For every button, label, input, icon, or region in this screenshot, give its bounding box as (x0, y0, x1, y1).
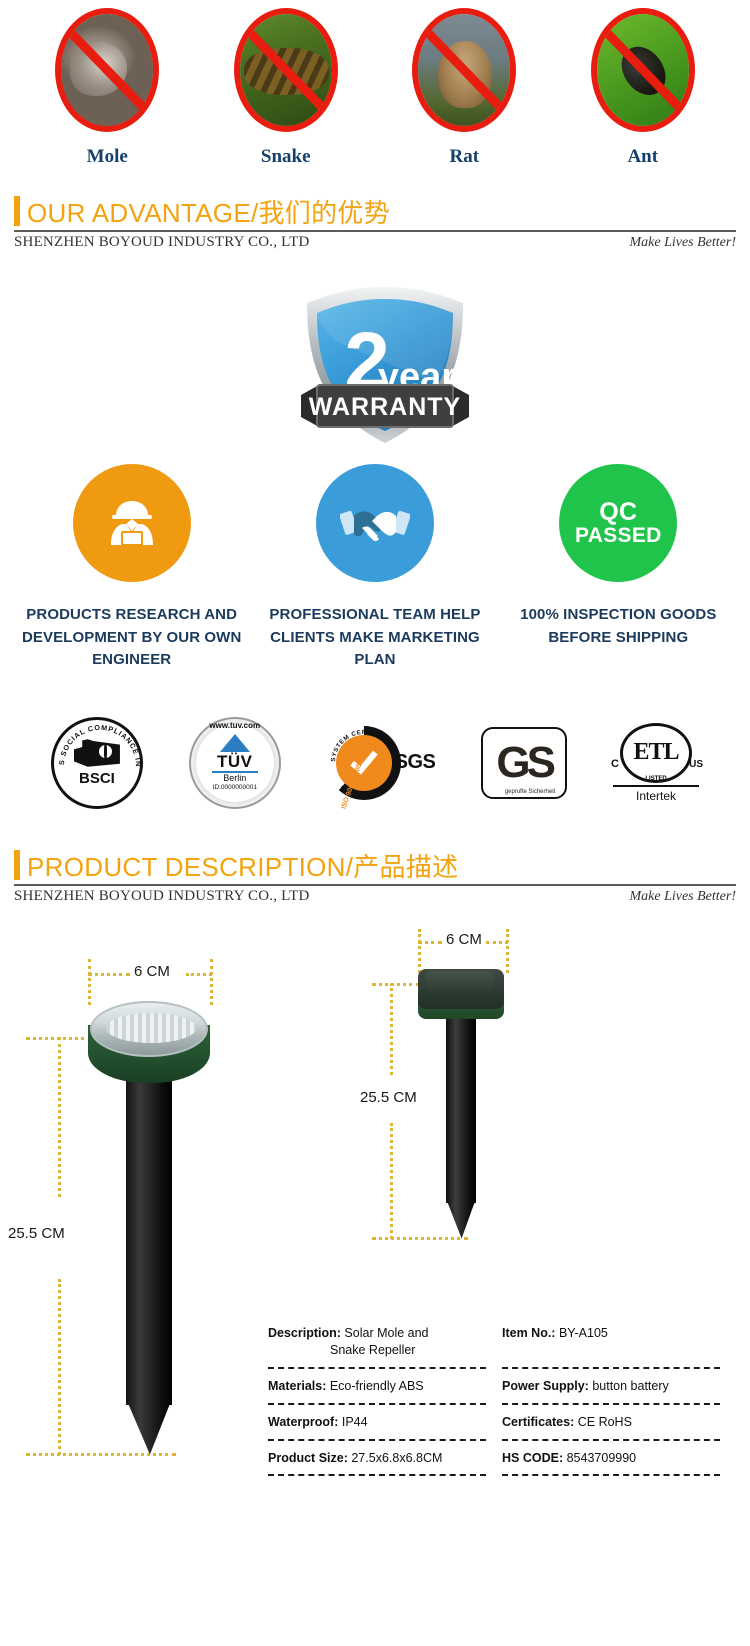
pest-item: Ant (568, 8, 718, 168)
section-title: OUR ADVANTAGE/我们的优势 (27, 200, 390, 226)
spec-value: 27.5x6.8x6.8CM (351, 1451, 442, 1465)
spec-row: Description: Solar Mole and Snake Repell… (268, 1322, 486, 1369)
gs-logo: GS geprufte Sicherheit (481, 727, 567, 799)
pest-label: Ant (568, 146, 718, 168)
spec-text: Description: Solar Mole and Snake Repell… (268, 1325, 486, 1359)
feature-inspection: QC PASSED 100% INSPECTION GOODS BEFORE S… (503, 464, 733, 672)
mole-photo-frame (55, 8, 159, 132)
dim-guide (506, 929, 509, 973)
dim-guide (88, 973, 130, 976)
snake-photo-frame (234, 8, 338, 132)
gs-label: GS (496, 743, 552, 783)
dim-guide (390, 983, 393, 1075)
etl-label: ETL (634, 739, 679, 766)
spec-separator (502, 1367, 720, 1369)
product-image-round: 6 CM 25.5 CM (0, 929, 260, 1489)
section-title-row: PRODUCT DESCRIPTION/产品描述 (14, 850, 736, 880)
ant-photo-frame (591, 8, 695, 132)
spec-key: Waterproof: (268, 1415, 338, 1429)
sgs-seal-icon: SYSTEM CERTIFICATION ISO 9001:2000 (327, 726, 401, 800)
tuv-badge: www.tuv.com TÜV Berlin ID:0000000001 (189, 717, 281, 809)
spec-key: HS CODE: (502, 1451, 563, 1465)
feature-caption: PRODUCTS RESEARCH AND DEVELOPMENT BY OUR… (17, 604, 247, 672)
etl-listed-text: LISTED (645, 776, 666, 782)
dim-guide (186, 973, 212, 976)
stake-shaft (446, 1015, 476, 1203)
dim-guide (58, 1037, 61, 1197)
spec-key: Certificates: (502, 1415, 574, 1429)
device-cap (418, 969, 504, 1009)
pest-label: Rat (389, 146, 539, 168)
pest-label: Snake (211, 146, 361, 168)
warranty-badge-area: 2 year WARRANTY (0, 263, 750, 458)
etl-prefix: C (611, 758, 619, 770)
company-name: SHENZHEN BOYOUD INDUSTRY CO., LTD (14, 234, 310, 251)
spec-value: Eco-friendly ABS (330, 1379, 424, 1393)
spec-key: Materials: (268, 1379, 326, 1393)
qc-badge-text: QC PASSED (575, 500, 662, 547)
feature-research: PRODUCTS RESEARCH AND DEVELOPMENT BY OUR… (17, 464, 247, 672)
etl-divider (613, 785, 699, 787)
etl-suffix: US (689, 759, 703, 770)
tuv-label: TÜV (217, 753, 253, 770)
bsci-badge: BUSINESS SOCIAL COMPLIANCE INITIATIVE BS… (51, 717, 143, 809)
qc-line-2: PASSED (575, 525, 662, 546)
spec-key: Product Size: (268, 1451, 348, 1465)
header-divider (14, 884, 736, 886)
spec-text: Certificates: CE RoHS (502, 1414, 720, 1431)
spec-text: Waterproof: IP44 (268, 1414, 486, 1431)
sgs-logo: SYSTEM CERTIFICATION ISO 9001:2000 SGS (327, 726, 436, 800)
spec-separator (268, 1439, 486, 1441)
spec-row: Product Size: 27.5x6.8x6.8CM (268, 1447, 486, 1477)
rat-photo-frame (412, 8, 516, 132)
spec-separator (502, 1439, 720, 1441)
spec-value-line2 (502, 1342, 720, 1359)
pest-item: Mole (32, 8, 182, 168)
solar-panel-cap (90, 1001, 208, 1057)
spec-row: Waterproof: IP44 (268, 1411, 486, 1441)
feature-caption: PROFESSIONAL TEAM HELP CLIENTS MAKE MARK… (260, 604, 490, 672)
engineer-icon (73, 464, 191, 582)
spec-row: Power Supply: button battery (502, 1375, 720, 1405)
product-image-square: 6 CM 25.5 CM (360, 911, 610, 1241)
spec-separator (502, 1474, 720, 1476)
dim-guide (486, 941, 508, 944)
features-row: PRODUCTS RESEARCH AND DEVELOPMENT BY OUR… (0, 464, 750, 672)
globe-icon (97, 743, 114, 760)
spec-column-right: Item No.: BY-A105 Power Supply: button b… (502, 1322, 720, 1482)
section-subtitle-row: SHENZHEN BOYOUD INDUSTRY CO., LTD Make L… (14, 888, 736, 905)
company-tagline: Make Lives Better! (629, 889, 736, 905)
bsci-logo: BUSINESS SOCIAL COMPLIANCE INITIATIVE BS… (51, 717, 143, 809)
company-name: SHENZHEN BOYOUD INDUSTRY CO., LTD (14, 888, 310, 905)
warranty-shield-icon: 2 year WARRANTY (295, 281, 455, 441)
dim-guide (390, 1123, 393, 1239)
our-advantage-header: OUR ADVANTAGE/我们的优势 SHENZHEN BOYOUD INDU… (0, 196, 750, 251)
spec-separator (502, 1403, 720, 1405)
section-subtitle-row: SHENZHEN BOYOUD INDUSTRY CO., LTD Make L… (14, 234, 736, 251)
spec-value: Solar Mole and (344, 1326, 428, 1340)
dim-guide (26, 1453, 176, 1456)
dim-guide (372, 983, 420, 986)
gs-sub-label: geprufte Sicherheit (505, 789, 555, 795)
dim-guide (58, 1279, 61, 1455)
section-title-row: OUR ADVANTAGE/我们的优势 (14, 196, 736, 226)
spec-value: CE RoHS (578, 1415, 632, 1429)
etl-brand: Intertek (613, 789, 699, 803)
dim-guide (418, 929, 421, 973)
spec-row: Materials: Eco-friendly ABS (268, 1375, 486, 1405)
etl-logo: C ETL US LISTED Intertek (613, 723, 699, 803)
width-dimension-label: 6 CM (134, 963, 170, 980)
tuv-id: ID:0000000001 (213, 784, 257, 791)
solar-panel (426, 971, 494, 993)
spec-separator (268, 1367, 486, 1369)
dim-guide (372, 1237, 468, 1240)
spec-key: Item No.: (502, 1326, 555, 1340)
feature-caption: 100% INSPECTION GOODS BEFORE SHIPPING (503, 604, 733, 649)
spec-text: Item No.: BY-A105 (502, 1325, 720, 1359)
spec-text: Materials: Eco-friendly ABS (268, 1378, 486, 1395)
stake-tip (446, 1199, 476, 1239)
tuv-logo: www.tuv.com TÜV Berlin ID:0000000001 (189, 717, 281, 809)
stake-shaft (126, 1075, 172, 1405)
spec-text: Power Supply: button battery (502, 1378, 720, 1395)
spec-value: button battery (592, 1379, 668, 1393)
spec-row: Certificates: CE RoHS (502, 1411, 720, 1441)
pest-item: Snake (211, 8, 361, 168)
spec-grid: Description: Solar Mole and Snake Repell… (268, 1322, 720, 1482)
accent-bar (14, 850, 20, 880)
pest-target-row: Mole Snake Rat Ant (0, 0, 750, 180)
spec-value: IP44 (342, 1415, 368, 1429)
dim-guide (210, 959, 213, 1005)
spec-text: Product Size: 27.5x6.8x6.8CM (268, 1450, 486, 1467)
certification-logos-row: BUSINESS SOCIAL COMPLIANCE INITIATIVE BS… (0, 698, 750, 828)
tuv-city: Berlin (223, 774, 246, 784)
spec-row: HS CODE: 8543709990 (502, 1447, 720, 1477)
spec-row: Item No.: BY-A105 (502, 1322, 720, 1369)
product-description-header: PRODUCT DESCRIPTION/产品描述 SHENZHEN BOYOUD… (0, 850, 750, 905)
handshake-icon (316, 464, 434, 582)
pest-item: Rat (389, 8, 539, 168)
spec-value: BY-A105 (559, 1326, 608, 1340)
etl-badge: C ETL US LISTED (620, 723, 692, 783)
pest-label: Mole (32, 146, 182, 168)
dim-guide (418, 941, 442, 944)
dim-guide (88, 959, 91, 1005)
spec-key: Power Supply: (502, 1379, 589, 1393)
width-dimension-label: 6 CM (446, 931, 482, 948)
spec-value-line2: Snake Repeller (268, 1342, 486, 1359)
spec-separator (268, 1474, 486, 1476)
company-tagline: Make Lives Better! (629, 235, 736, 251)
feature-team: PROFESSIONAL TEAM HELP CLIENTS MAKE MARK… (260, 464, 490, 672)
warranty-banner-text: WARRANTY (309, 393, 461, 421)
stake-tip (126, 1399, 172, 1455)
product-spec-table: Description: Solar Mole and Snake Repell… (268, 1322, 720, 1482)
spec-key: Description: (268, 1326, 341, 1340)
accent-bar (14, 196, 20, 226)
tuv-url: www.tuv.com (209, 721, 260, 730)
tuv-triangle-icon (220, 734, 250, 752)
height-dimension-label: 25.5 CM (8, 1225, 65, 1242)
section-title: PRODUCT DESCRIPTION/产品描述 (27, 854, 458, 880)
qc-line-1: QC (599, 498, 637, 526)
spec-text: HS CODE: 8543709990 (502, 1450, 720, 1467)
qc-passed-icon: QC PASSED (559, 464, 677, 582)
header-divider (14, 230, 736, 232)
height-dimension-label: 25.5 CM (360, 1089, 417, 1106)
spec-separator (268, 1403, 486, 1405)
sgs-label: SGS (395, 751, 436, 774)
spec-value: 8543709990 (567, 1451, 637, 1465)
gs-badge: GS geprufte Sicherheit (481, 727, 567, 799)
spec-column-left: Description: Solar Mole and Snake Repell… (268, 1322, 486, 1482)
